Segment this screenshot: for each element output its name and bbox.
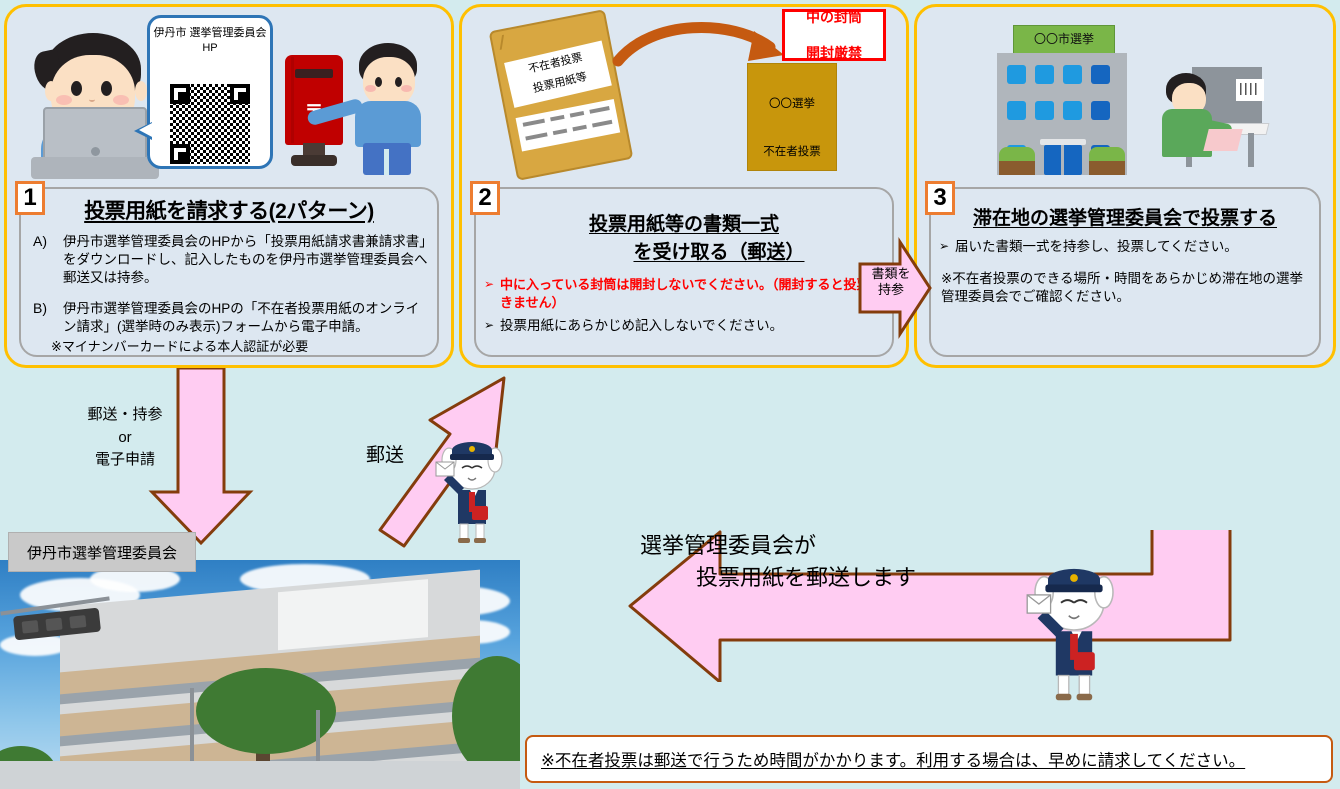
down-arrow-line-2: or — [118, 429, 131, 446]
panel-3-illustration: 〇〇市選挙 管理委員会 — [917, 7, 1333, 183]
bullet-marker-icon: ➢ — [939, 238, 955, 256]
panel-3-bullet-1-text: 届いた書類一式を持参し、投票してください。 — [955, 238, 1313, 256]
item-a-text: 伊丹市選挙管理委員会のHPから「投票用紙請求書兼請求書」をダウンロードし、記入し… — [63, 233, 429, 286]
panel-1-item-a: A) 伊丹市選挙管理委員会のHPから「投票用紙請求書兼請求書」をダウンロードし、… — [21, 233, 437, 286]
panel-1-text-box: 投票用紙を請求する(2パターン) A) 伊丹市選挙管理委員会のHPから「投票用紙… — [19, 187, 439, 357]
postal-mascot-icon — [432, 434, 512, 544]
office-photo-block: 伊丹市選挙管理委員会 — [0, 532, 520, 789]
qr-code-icon[interactable] — [170, 84, 250, 164]
panel-1-title: 投票用紙を請求する(2パターン) — [21, 189, 437, 225]
panel-1-item-b: B) 伊丹市選挙管理委員会のHPの「不在者投票用紙のオンライン請求」(選挙時のみ… — [21, 300, 437, 336]
inner-doc-line-2: 不在者投票 — [748, 112, 836, 160]
panel-2-title-line-2: を受け取る（郵送） — [476, 239, 892, 267]
panel-1-illustration: 伊丹市 選挙管理委員会 HP 〒 — [7, 7, 451, 183]
arrow-23-line-1: 書類を — [871, 266, 910, 281]
big-arrow-line-2: 投票用紙を郵送します — [640, 562, 916, 594]
office-photo-caption: 伊丹市選挙管理委員会 — [8, 532, 196, 572]
step-panel-3: 〇〇市選挙 管理委員会 — [914, 4, 1336, 368]
postal-mascot-icon — [1022, 556, 1126, 704]
warning-line-1: 中の封筒 — [806, 8, 862, 26]
step-panel-2: 不在者投票 投票用紙等 〇〇選挙 不在者投票 — [459, 4, 909, 368]
panel-3-bullet-1: ➢ 届いた書類一式を持参し、投票してください。 — [931, 238, 1319, 256]
down-arrow-line-3: 電子申請 — [95, 451, 155, 468]
diagram-canvas: 伊丹市 選挙管理委員会 HP 〒 — [0, 0, 1340, 789]
warning-box-do-not-open: 中の封筒 開封厳禁 — [782, 9, 886, 61]
step-number-badge-2: 2 — [470, 181, 500, 215]
item-b-text: 伊丹市選挙管理委員会のHPの「不在者投票用紙のオンライン請求」(選挙時のみ表示)… — [63, 300, 429, 336]
voter-at-booth-illustration — [1162, 67, 1290, 177]
panel-2-title: 投票用紙等の書類一式 を受け取る（郵送） — [476, 189, 892, 266]
arrow-carry-documents: 書類を 持参 — [856, 236, 934, 340]
panel-3-note: ※不在者投票のできる場所・時間をあらかじめ滞在地の選挙管理委員会でご確認ください… — [931, 270, 1319, 306]
bubble-line-3: HP — [202, 42, 217, 54]
arrow-mail-to-office-label: 郵送 — [352, 444, 418, 468]
inner-envelope-illustration: 〇〇選挙 不在者投票 — [747, 63, 837, 171]
speech-bubble-hp: 伊丹市 選挙管理委員会 HP — [147, 15, 273, 169]
panel-2-text-box: 投票用紙等の書類一式 を受け取る（郵送） ➢ 中に入っている封筒は開封しないでく… — [474, 187, 894, 357]
big-arrow-line-1: 選挙管理委員会が — [640, 533, 816, 558]
arrow-send-or-apply-label: 郵送・持参 or 電子申請 — [70, 404, 180, 472]
down-arrow-line-1: 郵送・持参 — [87, 406, 162, 423]
panel-2-title-line-1: 投票用紙等の書類一式 — [589, 214, 779, 235]
panel-3-title: 滞在地の選挙管理委員会で投票する — [931, 189, 1319, 230]
panel-2-bullet-1-text: 中に入っている封筒は開封しないでください。（開封すると投票できません） — [500, 276, 886, 311]
item-a-letter: A) — [33, 233, 63, 286]
panel-2-illustration: 不在者投票 投票用紙等 〇〇選挙 不在者投票 — [462, 7, 906, 183]
step-number-badge-3: 3 — [925, 181, 955, 215]
warning-line-2: 開封厳禁 — [806, 44, 862, 62]
arrow-carry-documents-label: 書類を 持参 — [862, 266, 920, 299]
panel-2-bullet-2-text: 投票用紙にあらかじめ記入しないでください。 — [500, 317, 886, 335]
panel-1-note: ※マイナンバーカードによる本人認証が必要 — [21, 338, 437, 355]
bullet-marker-icon: ➢ — [484, 276, 500, 311]
building-sign-line-1: 〇〇市選挙 — [1014, 26, 1114, 47]
panel-2-bullet-2: ➢ 投票用紙にあらかじめ記入しないでください。 — [476, 317, 892, 335]
election-office-building-illustration — [997, 53, 1127, 175]
bubble-line-2: 選挙管理委員会 — [190, 27, 267, 39]
bottom-note-text: ※不在者投票は郵送で行うため時間がかかります。利用する場合は、早めに請求してくだ… — [527, 747, 1245, 771]
arrow-23-line-2: 持参 — [878, 282, 904, 297]
step-number-badge-1: 1 — [15, 181, 45, 215]
item-b-letter: B) — [33, 300, 63, 336]
itami-city-office-photo — [0, 560, 520, 789]
bubble-line-1: 伊丹市 — [153, 27, 186, 39]
bottom-note-box: ※不在者投票は郵送で行うため時間がかかります。利用する場合は、早めに請求してくだ… — [525, 735, 1333, 783]
inner-doc-line-1: 〇〇選挙 — [748, 64, 836, 112]
person-mailing-illustration — [337, 43, 447, 175]
step-panel-1: 伊丹市 選挙管理委員会 HP 〒 — [4, 4, 454, 368]
bullet-marker-icon: ➢ — [484, 317, 500, 335]
panel-2-bullet-1: ➢ 中に入っている封筒は開封しないでください。（開封すると投票できません） — [476, 276, 892, 311]
panel-3-text-box: 滞在地の選挙管理委員会で投票する ➢ 届いた書類一式を持参し、投票してください。… — [929, 187, 1321, 357]
